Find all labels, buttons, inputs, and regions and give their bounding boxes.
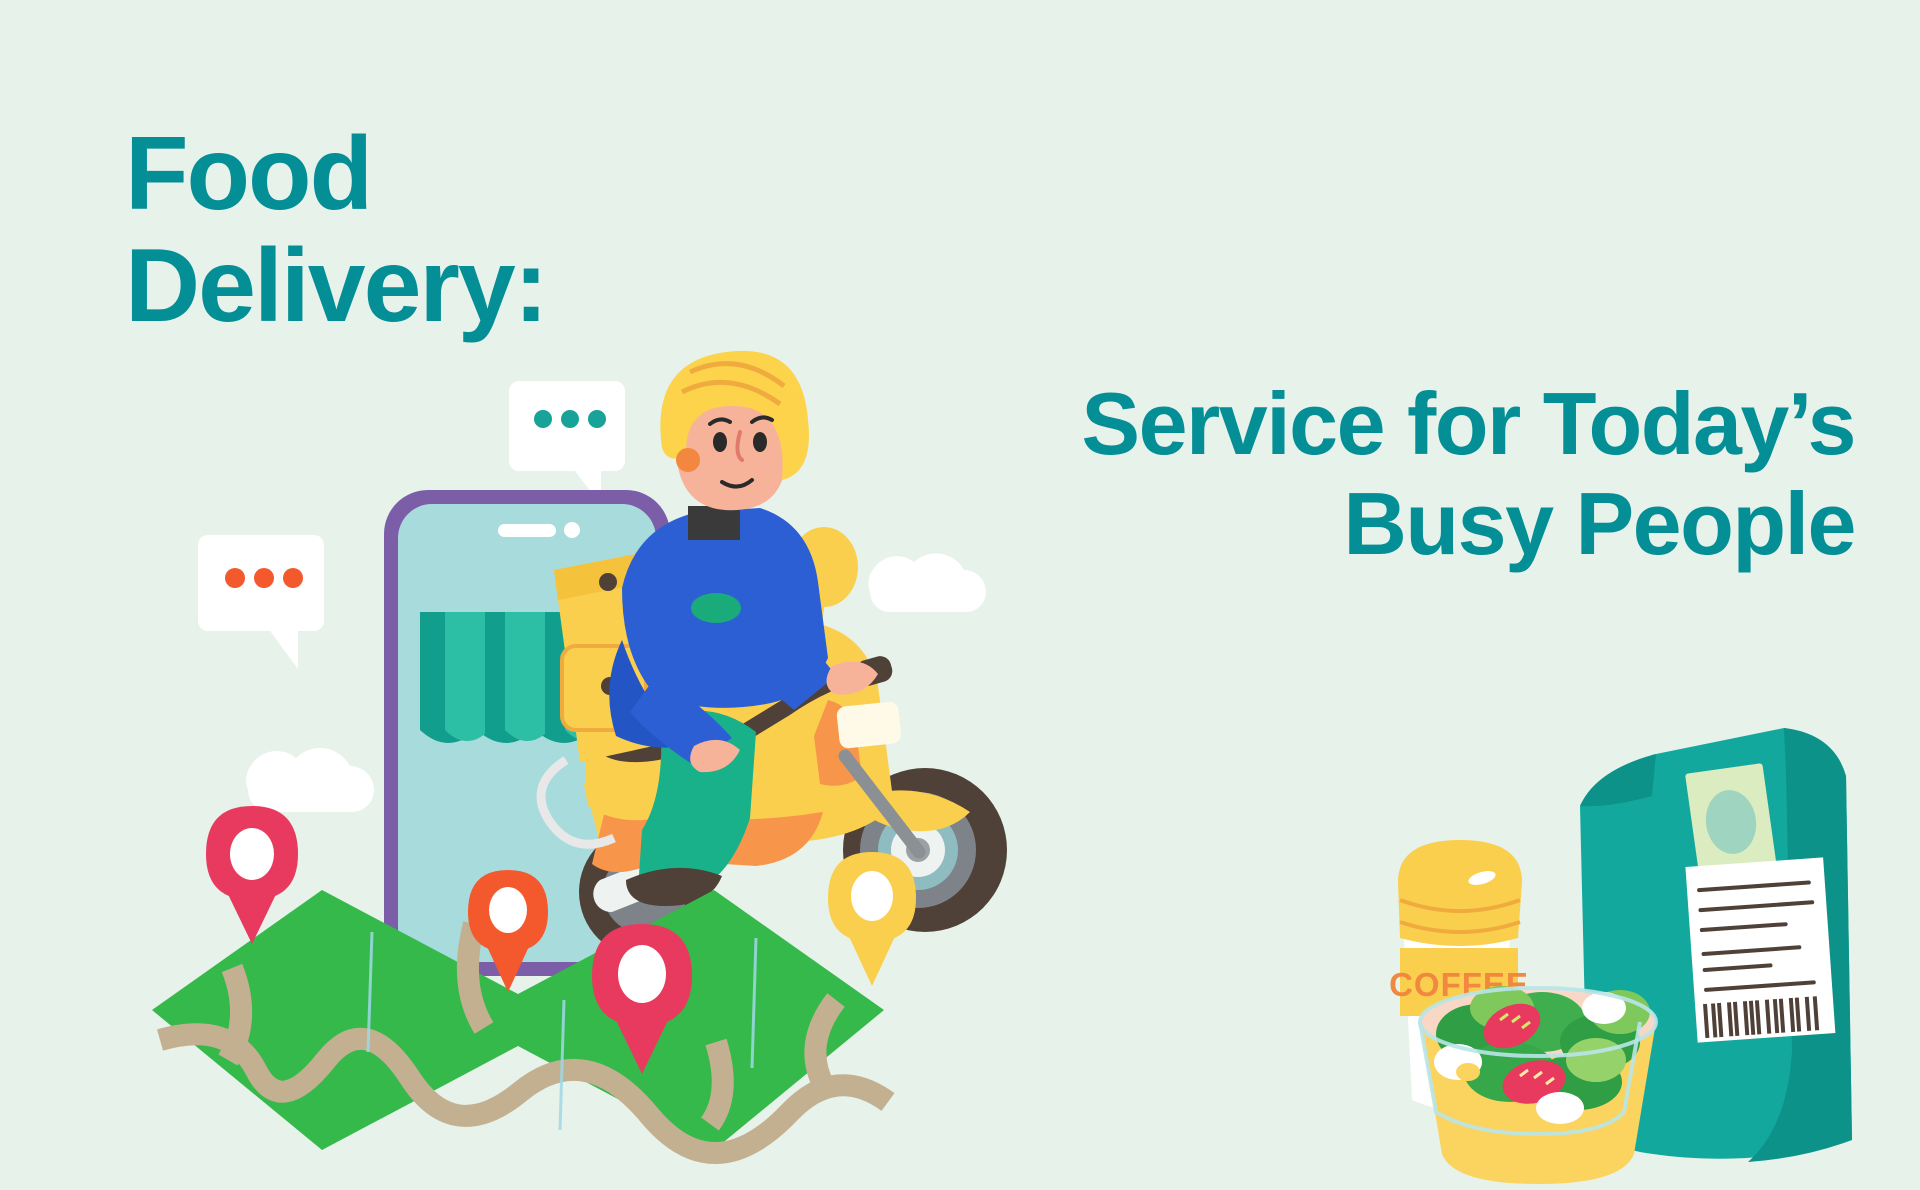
page-title-primary: Food Delivery: bbox=[125, 118, 546, 343]
courier-shoe bbox=[626, 868, 722, 906]
helmet-ear-pad bbox=[676, 448, 700, 472]
map-roads bbox=[160, 924, 888, 1153]
courier-hand-left bbox=[690, 740, 740, 772]
chat-dot bbox=[225, 568, 245, 588]
cloud-left bbox=[246, 748, 374, 812]
shop-awning bbox=[420, 612, 650, 743]
courier-hand-right bbox=[826, 662, 878, 695]
scooter-headlight bbox=[836, 701, 902, 749]
bag-seal-sticker bbox=[1685, 763, 1777, 879]
map-pin-2 bbox=[468, 870, 548, 992]
chat-bubble-orange bbox=[198, 535, 324, 669]
map-fold-lines bbox=[368, 932, 756, 1130]
delivery-courier bbox=[609, 351, 878, 906]
courier-eye-left bbox=[713, 432, 727, 452]
lid-sip-hole bbox=[1467, 868, 1497, 887]
takeaway-paper-bag bbox=[1580, 728, 1852, 1162]
handlebar-grip-left bbox=[696, 735, 730, 769]
bag-receipt-label bbox=[1685, 857, 1835, 1042]
page-title-secondary: Service for Today’s Busy People bbox=[1081, 374, 1855, 575]
map-pin-3 bbox=[592, 924, 692, 1074]
coffee-cup-sleeve bbox=[1400, 948, 1518, 1016]
delivery-backpack bbox=[554, 552, 672, 762]
chat-bubble-teal bbox=[509, 381, 625, 505]
map-pin-4 bbox=[828, 852, 916, 986]
cloud-right bbox=[868, 553, 986, 612]
scooter-front-wheel bbox=[579, 826, 715, 958]
coffee-cup: COFFEE bbox=[1389, 840, 1529, 1112]
phone-speaker bbox=[498, 524, 556, 537]
courier-helmet bbox=[660, 351, 809, 480]
coffee-cup-label: COFFEE bbox=[1389, 966, 1529, 1003]
courier-leg bbox=[638, 711, 756, 894]
scooter-mirror bbox=[790, 527, 858, 607]
coffee-cup-lid bbox=[1398, 840, 1522, 946]
scooter-seat bbox=[586, 710, 710, 762]
courier-arm-right bbox=[728, 620, 836, 710]
smartphone bbox=[384, 490, 670, 976]
folded-map bbox=[152, 890, 888, 1153]
courier-jacket bbox=[622, 508, 828, 708]
salad-cheese bbox=[1434, 992, 1626, 1124]
map-pin-1 bbox=[206, 806, 298, 944]
handlebar-grip-right bbox=[853, 654, 895, 689]
chat-dot bbox=[588, 410, 606, 428]
phone-camera bbox=[564, 522, 580, 538]
chat-dot bbox=[254, 568, 274, 588]
barcode bbox=[1705, 996, 1817, 1038]
scooter-body bbox=[541, 527, 970, 872]
food-delivery-banner: COFFEE bbox=[0, 0, 1920, 1190]
courier-arm-left bbox=[630, 676, 732, 764]
courier-eye-right bbox=[753, 432, 767, 452]
salad-bowl bbox=[1420, 986, 1656, 1184]
chat-dot bbox=[561, 410, 579, 428]
salad-greens bbox=[1436, 986, 1650, 1110]
chat-dot bbox=[283, 568, 303, 588]
courier-face bbox=[676, 390, 786, 510]
salad-tomato bbox=[1476, 995, 1570, 1110]
scooter-rear-wheel bbox=[843, 768, 1007, 932]
jacket-logo bbox=[691, 593, 741, 623]
chat-dot bbox=[534, 410, 552, 428]
